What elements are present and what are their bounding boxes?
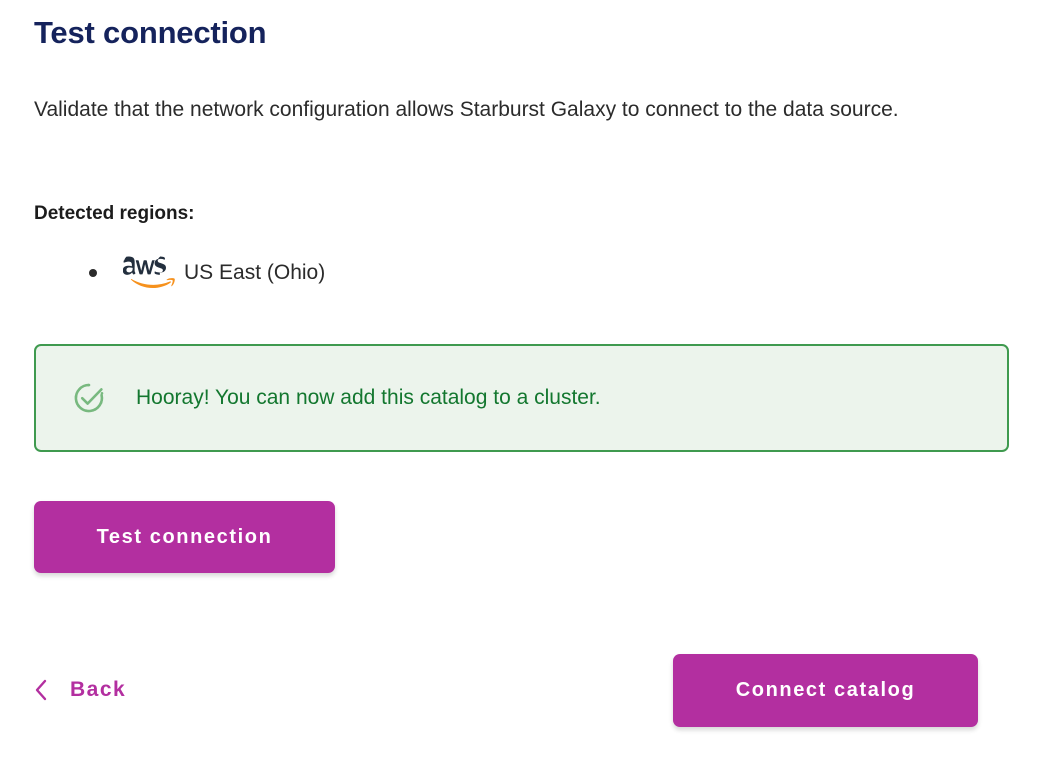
page-title: Test connection (34, 13, 266, 53)
back-button-label: Back (70, 678, 126, 702)
aws-logo-icon (123, 256, 176, 290)
region-name: US East (Ohio) (184, 258, 325, 288)
detected-regions-label: Detected regions: (34, 200, 194, 228)
back-button[interactable]: Back (33, 668, 126, 712)
chevron-left-icon (33, 679, 49, 701)
status-banner-message: Hooray! You can now add this catalog to … (136, 383, 601, 413)
test-connection-page: Test connection Validate that the networ… (0, 0, 1044, 778)
check-circle-icon (69, 378, 109, 418)
list-item: US East (Ohio) (34, 252, 325, 294)
test-connection-button[interactable]: Test connection (34, 501, 335, 573)
connect-catalog-button[interactable]: Connect catalog (673, 654, 978, 727)
intro-description: Validate that the network configuration … (34, 86, 994, 134)
status-banner: Hooray! You can now add this catalog to … (34, 344, 1009, 452)
bullet-icon (89, 269, 97, 277)
detected-regions-list: US East (Ohio) (34, 252, 325, 294)
